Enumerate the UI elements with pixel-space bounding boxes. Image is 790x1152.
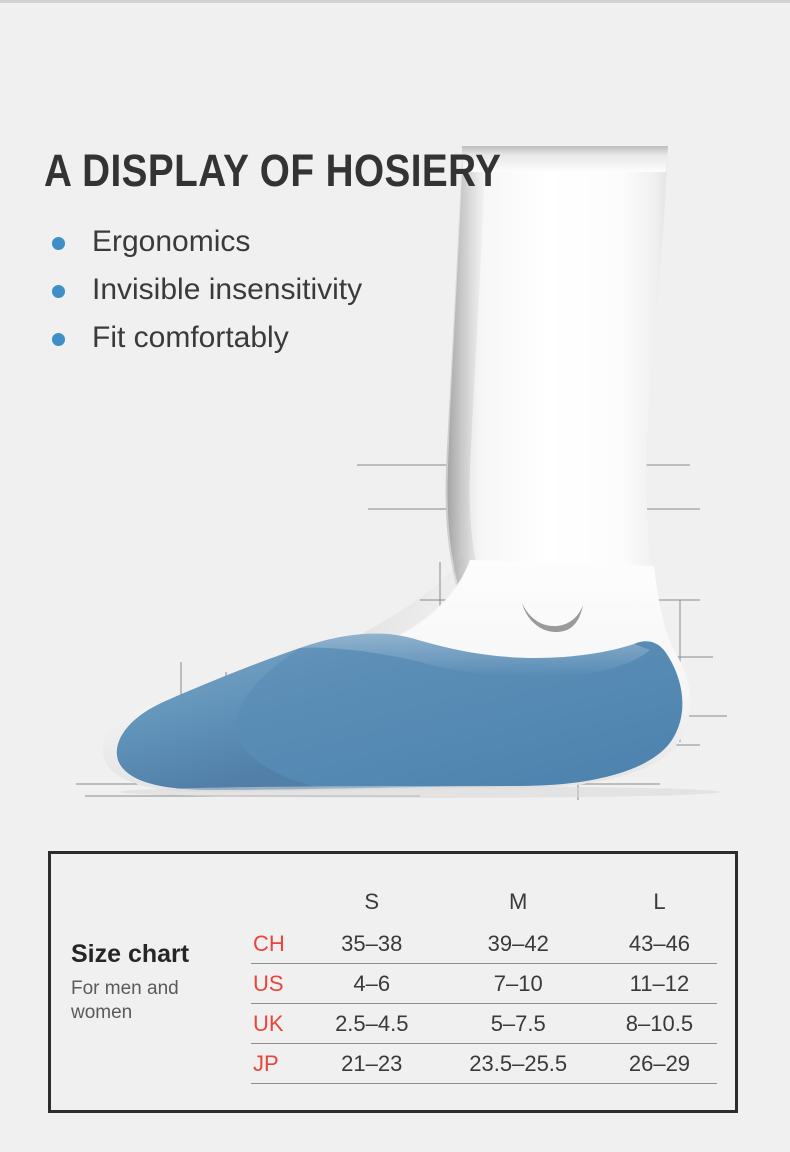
feature-item: Ergonomics [44, 218, 464, 266]
row-label-us: US [251, 964, 309, 1004]
column-header-m: M [435, 880, 602, 924]
bullet-icon [52, 237, 65, 250]
size-chart-panel: Size chart For men and women S M L CH 35… [48, 851, 738, 1113]
size-table-head: S M L [251, 880, 717, 924]
table-row: JP 21–23 23.5–25.5 26–29 [251, 1044, 717, 1084]
cell-uk-s: 2.5–4.5 [309, 1004, 435, 1044]
size-chart-table: S M L CH 35–38 39–42 43–46 US 4–6 7–10 1… [251, 880, 717, 1084]
cell-uk-l: 8–10.5 [602, 1004, 717, 1044]
size-chart-subtitle: For men and women [71, 977, 231, 1025]
ground-shadow [120, 786, 720, 798]
table-row: UK 2.5–4.5 5–7.5 8–10.5 [251, 1004, 717, 1044]
feature-label: Ergonomics [92, 225, 250, 258]
headline-block: A DISPLAY OF HOSIERY Ergonomics Invisibl… [44, 146, 464, 362]
cell-jp-m: 23.5–25.5 [435, 1044, 602, 1084]
size-chart-title: Size chart [71, 939, 251, 969]
row-label-jp: JP [251, 1044, 309, 1084]
infographic-page: A DISPLAY OF HOSIERY Ergonomics Invisibl… [0, 0, 790, 1152]
feature-item: Invisible insensitivity [44, 266, 464, 314]
size-table-body: CH 35–38 39–42 43–46 US 4–6 7–10 11–12 U… [251, 924, 717, 1084]
sock-illustration [0, 0, 790, 840]
cell-ch-m: 39–42 [435, 924, 602, 964]
feature-label: Fit comfortably [92, 321, 289, 354]
feature-item: Fit comfortably [44, 314, 464, 362]
table-header-row: S M L [251, 880, 717, 924]
table-row: US 4–6 7–10 11–12 [251, 964, 717, 1004]
table-row: CH 35–38 39–42 43–46 [251, 924, 717, 964]
column-header-l: L [602, 880, 717, 924]
cell-jp-l: 26–29 [602, 1044, 717, 1084]
cell-ch-s: 35–38 [309, 924, 435, 964]
row-label-uk: UK [251, 1004, 309, 1044]
page-title: A DISPLAY OF HOSIERY [44, 146, 405, 196]
feature-list: Ergonomics Invisible insensitivity Fit c… [44, 218, 464, 362]
column-header-s: S [309, 880, 435, 924]
size-chart-caption: Size chart For men and women [51, 939, 251, 1025]
feature-label: Invisible insensitivity [92, 273, 362, 306]
cell-ch-l: 43–46 [602, 924, 717, 964]
cell-us-l: 11–12 [602, 964, 717, 1004]
bullet-icon [52, 285, 65, 298]
bullet-icon [52, 333, 65, 346]
cell-us-s: 4–6 [309, 964, 435, 1004]
cell-uk-m: 5–7.5 [435, 1004, 602, 1044]
cell-us-m: 7–10 [435, 964, 602, 1004]
column-header-blank [251, 880, 309, 924]
cell-jp-s: 21–23 [309, 1044, 435, 1084]
row-label-ch: CH [251, 924, 309, 964]
